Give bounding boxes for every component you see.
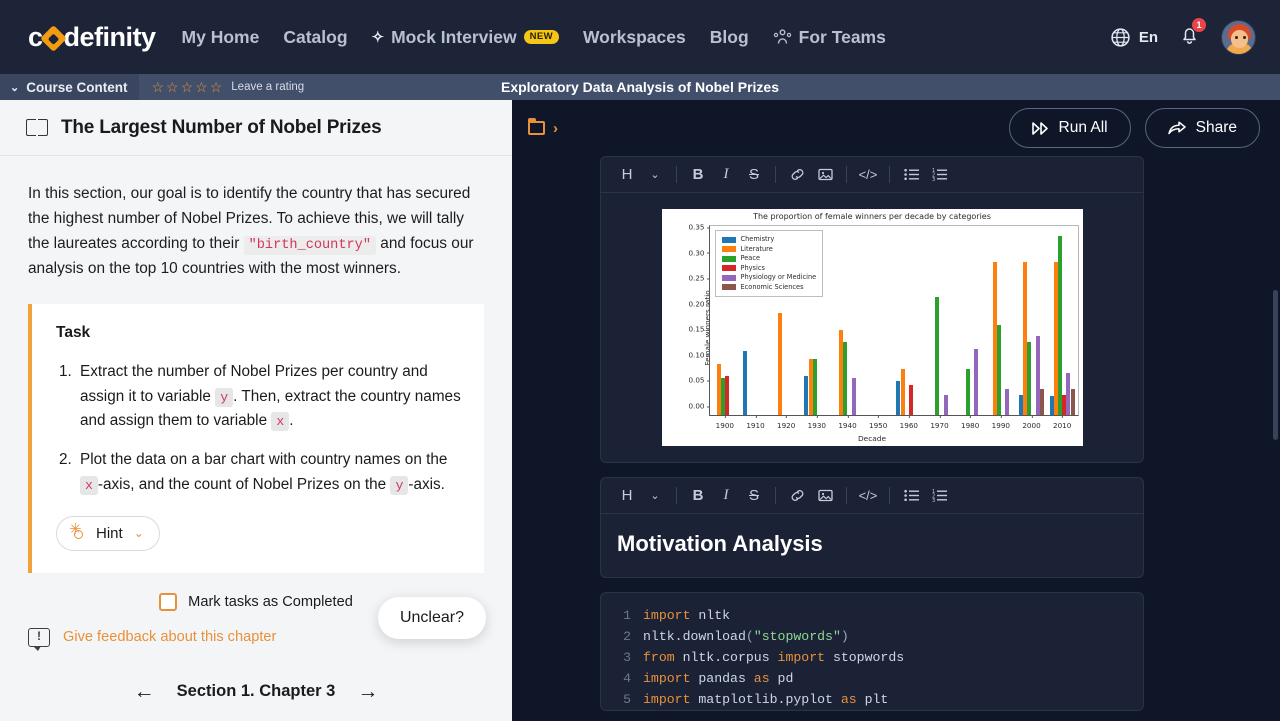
chart-bar [1040, 389, 1044, 415]
chart-bar [852, 378, 856, 415]
task-box: Task Extract the number of Nobel Prizes … [28, 304, 484, 573]
toolbar-divider [775, 166, 776, 183]
nav-item-for-teams[interactable]: For Teams [773, 27, 886, 48]
code-line-number: 2 [615, 626, 631, 647]
chart-title: The proportion of female winners per dec… [662, 212, 1083, 221]
new-badge: NEW [524, 30, 559, 44]
inline-var-y-2: y [390, 476, 408, 495]
hint-label: Hint [96, 525, 123, 542]
chart-legend-item: Literature [722, 245, 817, 255]
code-line-number: 1 [615, 605, 631, 626]
chart-legend-item: Physiology or Medicine [722, 273, 817, 283]
chart-legend: ChemistryLiteraturePeacePhysicsPhysiolog… [715, 230, 824, 297]
chart-plot-area: ChemistryLiteraturePeacePhysicsPhysiolog… [709, 225, 1079, 416]
legend-label: Peace [741, 254, 761, 264]
leave-rating-label[interactable]: Leave a rating [231, 81, 304, 93]
cell-toolbar: H ⌄ B I S </> [601, 478, 1143, 514]
link-icon[interactable] [783, 483, 811, 509]
code-token: nltk [690, 605, 730, 626]
code-token: nltk.corpus [675, 647, 778, 668]
notebook-cells: H ⌄ B I S </> [512, 156, 1280, 721]
legend-label: Literature [741, 245, 773, 255]
notebook-cell-code[interactable]: 1import nltk2nltk.download("stopwords")3… [600, 592, 1144, 711]
code-token: import [643, 668, 690, 689]
chart-ytick: 0.10 [688, 350, 704, 359]
code-token: import [778, 647, 825, 668]
notebook-panel: › Run All Share [512, 100, 1280, 721]
chart-xlabel: Decade [662, 434, 1083, 443]
chart-bar [778, 313, 782, 415]
course-subbar: Exploratory Data Analysis of Nobel Prize… [0, 74, 1280, 100]
legend-swatch [722, 237, 736, 243]
chart-bar [909, 385, 913, 415]
task-heading: Task [56, 324, 462, 342]
italic-button[interactable]: I [712, 162, 740, 188]
course-content-toggle[interactable]: ⌄ Course Content [0, 74, 139, 100]
chart-legend-item: Peace [722, 254, 817, 264]
chart-legend-item: Physics [722, 264, 817, 274]
chart-bar [1027, 342, 1031, 415]
svg-text:3: 3 [932, 498, 935, 502]
task-list: Extract the number of Nobel Prizes per c… [76, 360, 462, 498]
task-2-text-c: -axis. [408, 476, 445, 493]
chart-xtick: 1960 [900, 421, 918, 430]
nav-label: For Teams [799, 27, 886, 48]
rating-stars[interactable]: ☆ ☆ ☆ ☆ ☆ Leave a rating [139, 80, 304, 94]
code-line-number: 5 [615, 689, 631, 710]
mark-completed-checkbox[interactable] [159, 593, 177, 611]
chart-bar [1005, 389, 1009, 415]
mark-completed-label: Mark tasks as Completed [188, 594, 353, 610]
logo-diamond-icon [40, 25, 67, 52]
inline-var-y: y [215, 388, 233, 407]
chart-bar [997, 325, 1001, 415]
chart-legend-item: Chemistry [722, 235, 817, 245]
chart-xtick: 1930 [808, 421, 826, 430]
previous-chapter-button[interactable]: ← [134, 681, 155, 702]
notebook-header: › Run All Share [512, 100, 1280, 156]
code-token: plt [857, 689, 889, 710]
chart-xtick: 1990 [992, 421, 1010, 430]
code-line: 4import pandas as pd [601, 668, 1143, 689]
chart-bar [743, 351, 747, 415]
share-button[interactable]: Share [1145, 108, 1260, 148]
inline-var-x-2: x [80, 476, 98, 495]
codefinity-logo[interactable]: cdefinity [28, 22, 156, 53]
page-title: The Largest Number of Nobel Prizes [61, 117, 382, 139]
task-item-1: Extract the number of Nobel Prizes per c… [76, 360, 462, 434]
nav-item-mock-interview[interactable]: ✧ Mock Interview NEW [372, 27, 559, 48]
feedback-link[interactable]: Give feedback about this chapter [63, 629, 276, 645]
feedback-icon [28, 628, 50, 647]
code-token: import [643, 605, 690, 626]
run-all-button[interactable]: Run All [1009, 108, 1131, 148]
legend-swatch [722, 275, 736, 281]
image-icon[interactable] [811, 162, 839, 188]
fast-forward-icon [1032, 122, 1049, 135]
chart-bar [974, 349, 978, 415]
avatar-face [1231, 30, 1248, 48]
notifications-button[interactable]: 1 [1178, 23, 1201, 51]
chart-bar [1058, 236, 1062, 415]
code-token: nltk [643, 626, 675, 647]
chart-xtick: 1950 [869, 421, 887, 430]
book-icon [26, 119, 48, 136]
chart-xtick: 1970 [930, 421, 948, 430]
share-label: Share [1196, 119, 1237, 137]
nav-item-blog[interactable]: Blog [710, 27, 749, 48]
globe-icon [1110, 27, 1131, 48]
code-line-number: 3 [615, 647, 631, 668]
toolbar-divider [676, 487, 677, 504]
code-token: ) [841, 626, 849, 647]
task-2-text-a: Plot the data on a bar chart with countr… [80, 451, 447, 468]
code-line: 5import matplotlib.pyplot as plt [601, 689, 1143, 710]
nav-label: Workspaces [583, 27, 686, 48]
numbered-list-icon[interactable]: 123 [925, 483, 953, 509]
code-token: pandas [690, 668, 753, 689]
course-content-label: Course Content [26, 80, 127, 95]
chart-ytick: 0.35 [688, 223, 704, 232]
chevron-down-icon: ⌄ [134, 526, 144, 540]
next-chapter-button[interactable]: → [357, 681, 378, 702]
star-icon-1[interactable]: ☆ [151, 80, 164, 94]
sparkle-icon: ✧ [372, 28, 385, 46]
chart-ytick: 0.00 [688, 402, 704, 411]
svg-text:3: 3 [932, 177, 935, 181]
lesson-panel: The Largest Number of Nobel Prizes In th… [0, 100, 512, 721]
nav-item-workspaces[interactable]: Workspaces [583, 27, 686, 48]
lightbulb-icon [70, 526, 85, 541]
notification-count-badge: 1 [1191, 17, 1207, 33]
inline-var-x: x [271, 412, 289, 431]
image-icon[interactable] [811, 483, 839, 509]
unclear-button[interactable]: Unclear? [378, 597, 486, 639]
code-line-number: 4 [615, 668, 631, 689]
share-arrow-icon [1168, 121, 1186, 136]
star-icon-2[interactable]: ☆ [166, 80, 179, 94]
chart-legend-item: Economic Sciences [722, 283, 817, 293]
strikethrough-button[interactable]: S [740, 162, 768, 188]
breadcrumb-chevron-icon[interactable]: › [553, 120, 558, 137]
notebook-cell-markdown: H ⌄ B I S </> [600, 477, 1144, 578]
numbered-list-icon[interactable]: 123 [925, 162, 953, 188]
code-token: import [643, 689, 690, 710]
legend-swatch [722, 256, 736, 262]
chevron-down-icon: ⌄ [10, 81, 19, 94]
notebook-actions: Run All Share [1009, 108, 1261, 148]
toolbar-divider [775, 487, 776, 504]
legend-swatch [722, 246, 736, 252]
legend-label: Physics [741, 264, 765, 274]
logo-text-post: definity [64, 22, 156, 53]
markdown-heading[interactable]: Motivation Analysis [601, 514, 1143, 577]
link-icon[interactable] [783, 162, 811, 188]
nav-label: Blog [710, 27, 749, 48]
hint-button[interactable]: Hint ⌄ [56, 516, 160, 551]
star-icon-4[interactable]: ☆ [195, 80, 208, 94]
bullet-list-icon[interactable] [897, 162, 925, 188]
chart-xtick: 1900 [716, 421, 734, 430]
chart-bar [843, 342, 847, 415]
chevron-down-icon[interactable]: ⌄ [641, 483, 669, 509]
code-token: as [841, 689, 857, 710]
code-token: ( [746, 626, 754, 647]
legend-label: Chemistry [741, 235, 775, 245]
chart-xtick: 1940 [838, 421, 856, 430]
task-1-text-c: . [289, 412, 293, 429]
heading-button[interactable]: H [613, 483, 641, 509]
cell-output: The proportion of female winners per dec… [601, 193, 1143, 462]
code-icon[interactable]: </> [854, 483, 882, 509]
language-label: En [1139, 29, 1158, 46]
chart-xtick: 1920 [777, 421, 795, 430]
chart-ytick: 0.30 [688, 248, 704, 257]
nav-label: Mock Interview [391, 27, 516, 48]
chart-xtick: 2000 [1022, 421, 1040, 430]
chart-bar [1071, 389, 1075, 415]
legend-label: Economic Sciences [741, 283, 804, 293]
top-navigation-bar: cdefinity My Home Catalog ✧ Mock Intervi… [0, 0, 1280, 74]
legend-swatch [722, 284, 736, 290]
folder-icon[interactable] [528, 121, 545, 135]
language-selector[interactable]: En [1110, 27, 1158, 48]
nav-label: Catalog [283, 27, 347, 48]
code-line: 3from nltk.corpus import stopwords [601, 647, 1143, 668]
chart-bar [901, 369, 905, 415]
chart-xtick: 1980 [961, 421, 979, 430]
run-all-label: Run All [1059, 119, 1108, 137]
bullet-list-icon[interactable] [897, 483, 925, 509]
chart-bar [944, 395, 948, 415]
chapter-pager: ← Section 1. Chapter 3 → [28, 681, 484, 702]
task-2-text-b: -axis, and the count of Nobel Prizes on … [98, 476, 391, 493]
strikethrough-button[interactable]: S [740, 483, 768, 509]
code-token: "stopwords" [754, 626, 841, 647]
chevron-down-icon[interactable]: ⌄ [641, 162, 669, 188]
code-token: matplotlib.pyplot [690, 689, 840, 710]
legend-label: Physiology or Medicine [741, 273, 817, 283]
avatar-eye-left [1235, 36, 1238, 39]
chapter-indicator: Section 1. Chapter 3 [177, 682, 336, 701]
star-icon-3[interactable]: ☆ [181, 80, 194, 94]
cell-toolbar: H ⌄ B I S </> [601, 157, 1143, 193]
chart-bar [813, 359, 817, 415]
chart-ytick: 0.20 [688, 299, 704, 308]
intro-paragraph: In this section, our goal is to identify… [28, 182, 484, 282]
user-avatar[interactable] [1221, 20, 1256, 55]
code-token: from [643, 647, 675, 668]
toolbar-divider [889, 487, 890, 504]
italic-button[interactable]: I [712, 483, 740, 509]
bold-button[interactable]: B [684, 483, 712, 509]
people-icon [773, 29, 792, 45]
code-token: .download [675, 626, 746, 647]
nav-item-my-home[interactable]: My Home [182, 27, 260, 48]
chart-ytick: 0.15 [688, 325, 704, 334]
heading-button[interactable]: H [613, 162, 641, 188]
chart-bar [725, 376, 729, 415]
primary-nav-links: My Home Catalog ✧ Mock Interview NEW Wor… [182, 27, 886, 48]
chart-ytick: 0.25 [688, 274, 704, 283]
notebook-cell-chart: H ⌄ B I S </> [600, 156, 1144, 463]
code-line: 1import nltk [601, 605, 1143, 626]
notebook-scrollbar[interactable] [1273, 290, 1278, 440]
nav-item-catalog[interactable]: Catalog [283, 27, 347, 48]
toolbar-divider [889, 166, 890, 183]
avatar-eye-right [1243, 36, 1246, 39]
nav-right-actions: En 1 [1110, 20, 1256, 55]
female-winners-bar-chart: The proportion of female winners per dec… [662, 209, 1083, 446]
inline-code-birth-country: "birth_country" [244, 236, 376, 255]
legend-swatch [722, 265, 736, 271]
task-item-2: Plot the data on a bar chart with countr… [76, 448, 462, 498]
chart-ytick: 0.05 [688, 376, 704, 385]
code-line: 2nltk.download("stopwords") [601, 626, 1143, 647]
chart-xtick: 2010 [1053, 421, 1071, 430]
star-icon-5[interactable]: ☆ [210, 80, 223, 94]
nav-label: My Home [182, 27, 260, 48]
bold-button[interactable]: B [684, 162, 712, 188]
chart-bar [966, 369, 970, 415]
code-token: stopwords [825, 647, 904, 668]
toolbar-divider [846, 487, 847, 504]
chart-bar [935, 297, 939, 415]
lesson-header: The Largest Number of Nobel Prizes [0, 100, 512, 156]
main-split: The Largest Number of Nobel Prizes In th… [0, 100, 1280, 721]
code-token: as [754, 668, 770, 689]
chart-xtick: 1910 [746, 421, 764, 430]
toolbar-divider [676, 166, 677, 183]
code-icon[interactable]: </> [854, 162, 882, 188]
code-token: pd [770, 668, 794, 689]
toolbar-divider [846, 166, 847, 183]
